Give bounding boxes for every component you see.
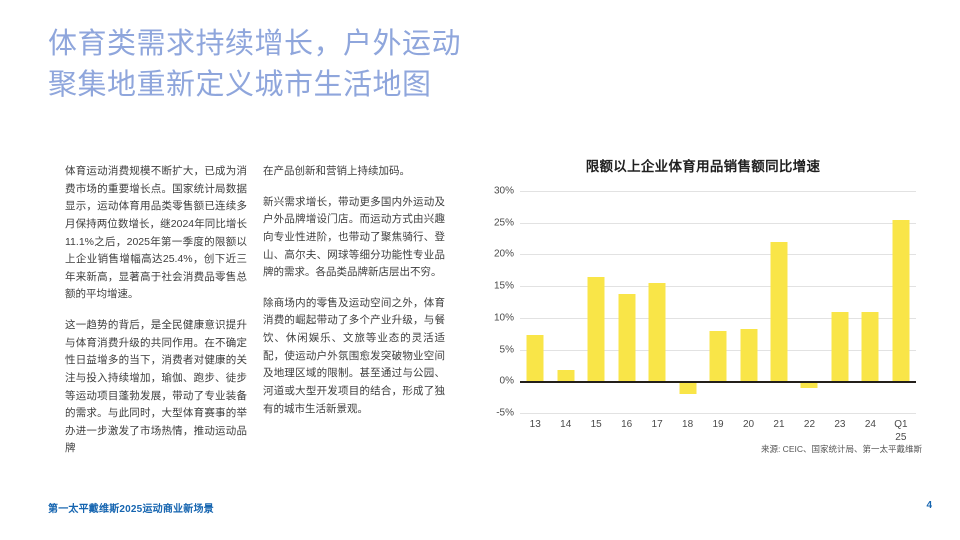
gridline	[520, 413, 916, 414]
y-axis-tick-label: 20%	[494, 249, 514, 260]
chart-plot-area: 30%25%20%15%10%5%0%-5%	[520, 191, 916, 413]
page-number: 4	[926, 500, 932, 511]
bar-slot	[672, 191, 702, 413]
chart-x-axis: 131415161718192021222324Q1 25	[520, 419, 916, 444]
bar	[618, 294, 635, 382]
y-axis-tick-label: 30%	[494, 186, 514, 197]
x-axis-tick-label: 24	[855, 419, 885, 444]
x-axis-tick-label: 20	[733, 419, 763, 444]
page-title: 体育类需求持续增长，户外运动 聚集地重新定义城市生活地图	[48, 24, 608, 106]
x-axis-tick-label: 13	[520, 419, 550, 444]
bar-slot	[733, 191, 763, 413]
bar-slot	[642, 191, 672, 413]
x-axis-tick-label: 19	[703, 419, 733, 444]
bar-slot	[886, 191, 916, 413]
chart-source-note: 来源: CEIC、国家统计局、第一太平戴维斯	[478, 443, 922, 455]
x-axis-tick-label: 21	[764, 419, 794, 444]
x-axis-tick-label: 16	[611, 419, 641, 444]
zero-axis-line	[520, 381, 916, 383]
x-axis-tick-label: 15	[581, 419, 611, 444]
bar	[892, 220, 909, 381]
x-axis-tick-label: 17	[642, 419, 672, 444]
y-axis-tick-label: 5%	[500, 344, 514, 355]
bar-slot	[611, 191, 641, 413]
x-axis-tick-label: Q1 25	[886, 419, 916, 444]
body-paragraph: 新兴需求增长，带动更多国内外运动及户外品牌增设门店。而运动方式由兴趣向专业性进阶…	[263, 194, 445, 282]
bar	[770, 242, 787, 382]
body-paragraph: 在产品创新和营销上持续加码。	[263, 163, 445, 181]
y-axis-tick-label: -5%	[496, 408, 514, 419]
y-axis-tick-label: 15%	[494, 281, 514, 292]
y-axis-tick-label: 25%	[494, 217, 514, 228]
bar	[679, 381, 696, 394]
y-axis-tick-label: 0%	[500, 376, 514, 387]
bar-slot	[581, 191, 611, 413]
bar-slot	[703, 191, 733, 413]
body-column-right: 在产品创新和营销上持续加码。 新兴需求增长，带动更多国内外运动及户外品牌增设门店…	[263, 163, 445, 418]
bar-slot	[764, 191, 794, 413]
body-paragraph: 这一趋势的背后，是全民健康意识提升与体育消费升级的共同作用。在不确定性日益增多的…	[65, 317, 247, 458]
bar-slot	[794, 191, 824, 413]
bar	[740, 329, 757, 382]
bar-slot	[520, 191, 550, 413]
x-axis-tick-label: 23	[825, 419, 855, 444]
bar-slot	[855, 191, 885, 413]
bar-slot	[550, 191, 580, 413]
x-axis-tick-label: 22	[794, 419, 824, 444]
bar-slot	[825, 191, 855, 413]
y-axis-tick-label: 10%	[494, 312, 514, 323]
x-axis-tick-label: 14	[550, 419, 580, 444]
body-paragraph: 除商场内的零售及运动空间之外，体育消费的崛起带动了多个产业升级，与餐饮、休闲娱乐…	[263, 295, 445, 418]
bar	[710, 331, 727, 382]
chart-bars	[520, 191, 916, 413]
bar	[862, 312, 879, 382]
footer-label: 第一太平戴维斯2025运动商业新场景	[48, 500, 214, 515]
bar	[649, 283, 666, 381]
chart-title: 限额以上企业体育用品销售额同比增速	[478, 155, 928, 175]
bar	[527, 335, 544, 381]
bar	[588, 277, 605, 382]
bar-chart: 限额以上企业体育用品销售额同比增速 30%25%20%15%10%5%0%-5%…	[478, 155, 928, 475]
bar	[557, 370, 574, 381]
bar	[831, 312, 848, 382]
body-paragraph: 体育运动消费规模不断扩大，已成为消费市场的重要增长点。国家统计局数据显示，运动体…	[65, 163, 247, 304]
x-axis-tick-label: 18	[672, 419, 702, 444]
body-column-left: 体育运动消费规模不断扩大，已成为消费市场的重要增长点。国家统计局数据显示，运动体…	[65, 163, 247, 458]
